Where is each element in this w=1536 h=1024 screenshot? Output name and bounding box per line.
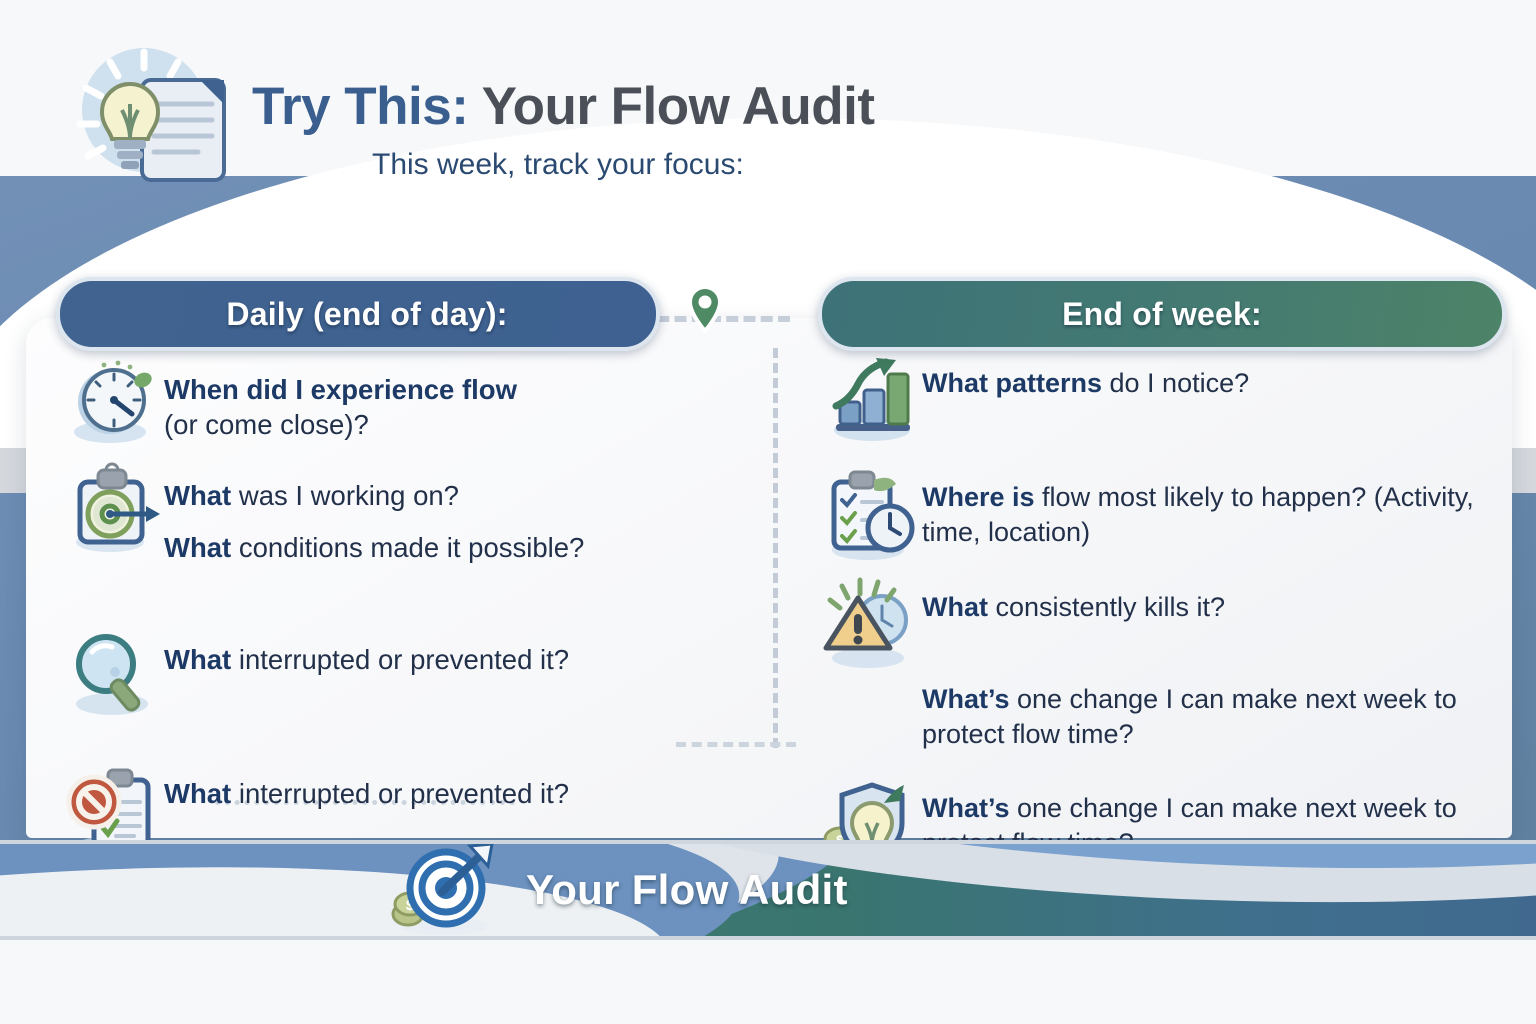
list-item-bold: What [164, 532, 231, 563]
list-item-bold: What [164, 644, 231, 675]
list-item-rest: (or come close)? [164, 409, 369, 440]
list-item-rest: do I notice? [1102, 368, 1249, 398]
end-of-week-heading-pill[interactable]: End of week: [818, 277, 1506, 351]
list-item-text: What interrupted or prevented it? [164, 762, 720, 811]
infographic-canvas: Try This: Your Flow Audit This week, tra… [0, 0, 1536, 1024]
list-item-bold: Where is [922, 482, 1035, 512]
list-item-text: When did I experience flow(or come close… [164, 358, 720, 442]
footer-banner: $ Your Flow Audit [0, 840, 1536, 940]
list-item-rest: interrupted or prevented it? [231, 644, 569, 675]
list-item-text: What’s one change I can make next week t… [922, 608, 1518, 751]
page-title: Try This: Your Flow Audit [252, 80, 875, 134]
title-accent: Try This: [252, 77, 468, 136]
target-arrow-coins-icon: $ [386, 844, 504, 936]
daily-heading-label: Daily (end of day): [60, 296, 656, 333]
list-item-rest: interrupted or prevented it? [231, 778, 569, 809]
map-pin-icon [686, 285, 724, 333]
title-main: Your Flow Audit [468, 77, 874, 136]
banner-bottom-edge [0, 936, 1536, 940]
lightbulb-document-icon [68, 42, 244, 192]
page-subtitle: This week, track your focus: [372, 148, 875, 182]
list-item-rest: was I working on? [231, 480, 459, 511]
list-item-bold: What [164, 778, 231, 809]
end-of-week-heading-label: End of week: [822, 296, 1502, 333]
column-divider-dashed [773, 348, 778, 748]
list-item-bold: What [164, 480, 231, 511]
list-item[interactable]: Where is flow most likely to happen? (Ac… [818, 466, 1518, 558]
list-item-bold: What’s [922, 684, 1010, 714]
list-item-rest: conditions made it possible? [231, 532, 584, 563]
header: Try This: Your Flow Audit This week, tra… [68, 42, 875, 192]
list-item-text: What conditions made it possible? [164, 516, 720, 565]
clipboard-target-icon [60, 464, 164, 556]
daily-heading-pill[interactable]: Daily (end of day): [56, 277, 660, 351]
list-item[interactable]: What patterns do I notice? [818, 352, 1518, 444]
list-item-text: What patterns do I notice? [922, 352, 1518, 401]
end-of-week-column: What patterns do I notice? [818, 352, 1518, 875]
daily-column: When did I experience flow(or come close… [60, 358, 720, 860]
checklist-clock-icon [818, 466, 922, 558]
list-item-text: What interrupted or prevented it? [164, 628, 720, 677]
magnifier-icon [60, 628, 164, 720]
stopwatch-icon [60, 358, 164, 450]
warning-clock-icon [818, 576, 922, 668]
banner-top-edge [0, 840, 1536, 844]
list-item-text: Where is flow most likely to happen? (Ac… [922, 466, 1518, 549]
list-item[interactable]: When did I experience flow(or come close… [60, 358, 720, 450]
list-item-bold: What’s [922, 793, 1010, 823]
banner-label: Your Flow Audit [526, 866, 848, 914]
list-item[interactable]: What interrupted or prevented it? [60, 628, 720, 720]
list-item[interactable]: What’s one change I can make next week t… [818, 608, 1518, 751]
bar-chart-growth-icon [818, 352, 922, 444]
list-item-text: What was I working on? [164, 464, 720, 513]
list-item-bold: When did I experience flow [164, 374, 517, 405]
list-item-bold: What patterns [922, 368, 1102, 398]
